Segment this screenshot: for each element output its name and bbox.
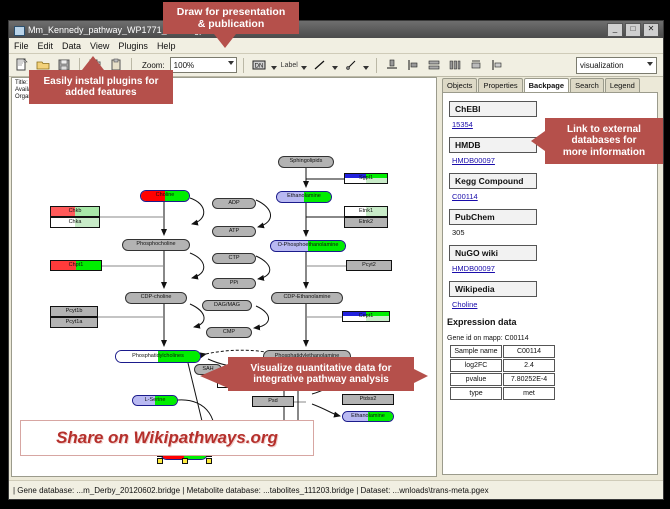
callout-link: Link to external databases for more info… — [545, 118, 663, 164]
node-label: Sphingolipids — [290, 159, 323, 165]
metabolite-node[interactable]: CTP — [212, 253, 256, 264]
expression-data-heading: Expression data — [447, 317, 657, 327]
distribute-icon[interactable] — [446, 56, 464, 74]
metabolite-node[interactable]: ATP — [212, 226, 256, 237]
database-block: Kegg CompoundC00114 — [449, 171, 657, 201]
metabolite-node[interactable]: ADP — [212, 198, 256, 209]
table-row: Sample nameC00114 — [450, 345, 555, 358]
callout-plugins-line1: Easily install plugins for — [43, 76, 158, 88]
pathway-canvas[interactable]: Title: Availa Organi — [11, 77, 437, 477]
node-label: PPi — [230, 281, 239, 287]
gene-node[interactable]: Chpt1 — [50, 260, 102, 271]
metabolite-node[interactable]: Choline — [140, 190, 190, 202]
gene-node[interactable]: Ptdss2 — [342, 394, 394, 405]
size-icon[interactable] — [467, 56, 485, 74]
node-label: ATP — [229, 229, 239, 235]
zoom-label: Zoom: — [142, 61, 165, 70]
zoom-value: 100% — [174, 61, 194, 70]
minimize-button[interactable]: _ — [607, 23, 623, 37]
node-label: Ethanolamine — [287, 194, 321, 200]
line-icon[interactable] — [311, 56, 329, 74]
node-label: Cept1 — [359, 314, 374, 320]
selection-handle[interactable] — [157, 458, 163, 464]
chevron-down-icon — [647, 62, 653, 66]
tab-legend[interactable]: Legend — [605, 78, 640, 92]
node-label: DAG/MAG — [214, 303, 240, 309]
node-label: Choline — [156, 193, 175, 199]
database-name: PubChem — [449, 209, 537, 225]
callout-link-line1: Link to external — [567, 124, 641, 136]
tab-properties[interactable]: Properties — [478, 78, 522, 92]
gene-node[interactable]: Pcyt2 — [346, 260, 392, 271]
selection-handle[interactable] — [206, 458, 212, 464]
database-value: 305 — [452, 228, 657, 237]
callout-plugins-arrow — [82, 56, 104, 70]
callout-visualize-line2: integrative pathway analysis — [253, 374, 389, 386]
expression-table: Sample nameC00114log2FC2.4pvalue7.80252E… — [449, 344, 556, 401]
callout-visualize-arrow — [200, 364, 228, 388]
interaction-icon[interactable] — [342, 56, 360, 74]
callout-share-text: Share on Wikipathways.org — [56, 428, 278, 448]
callout-draw: Draw for presentation & publication — [163, 2, 299, 34]
svg-text:DN: DN — [254, 64, 263, 70]
database-name: HMDB — [449, 137, 537, 153]
tab-search[interactable]: Search — [570, 78, 604, 92]
database-link[interactable]: C00114 — [452, 192, 657, 201]
table-row: log2FC2.4 — [450, 359, 555, 372]
menu-item-edit[interactable]: Edit — [38, 41, 54, 51]
callout-share: Share on Wikipathways.org — [20, 420, 314, 456]
node-label: Pcyt1b — [66, 309, 83, 315]
status-bar: | Gene database: ...m_Derby_20120602.bri… — [9, 480, 663, 499]
node-label: Pcyt2 — [362, 263, 376, 269]
node-label: CDP-choline — [141, 295, 172, 301]
expression-value: met — [503, 387, 555, 400]
toolbar-separator-3 — [243, 58, 244, 73]
maximize-button[interactable]: □ — [625, 23, 641, 37]
gene-id-label: Gene id on mapp: C00114 — [447, 335, 657, 342]
metabolite-node[interactable]: Sphingolipids — [278, 156, 334, 168]
gene-node[interactable]: Cept1 — [342, 311, 390, 322]
metabolite-node[interactable]: O-Phosphoethanolamine — [270, 240, 346, 252]
node-label: Ptdss2 — [360, 397, 377, 403]
node-label: Ethanolamine — [351, 414, 385, 420]
chevron-down-icon — [228, 61, 234, 65]
close-button[interactable]: ✕ — [643, 23, 659, 37]
line-dropdown-icon[interactable] — [332, 66, 338, 70]
expression-key: log2FC — [450, 359, 502, 372]
node-label: L-Serine — [145, 398, 166, 404]
database-block: WikipediaCholine — [449, 279, 657, 309]
menu-item-data[interactable]: Data — [62, 41, 81, 51]
gene-node[interactable]: Chkb — [50, 206, 100, 217]
tab-backpage[interactable]: Backpage — [524, 78, 569, 92]
bring-front-icon[interactable] — [488, 56, 506, 74]
visualization-value: visualization — [580, 61, 624, 70]
gene-node[interactable]: Pcyt1b — [50, 306, 98, 317]
node-label: Pcyt1a — [66, 320, 83, 326]
callout-visualize-arrow-right — [412, 368, 428, 384]
metabolite-node[interactable]: Phosphocholine — [122, 239, 190, 251]
node-label: CTP — [229, 256, 240, 262]
stack-icon[interactable] — [425, 56, 443, 74]
menu-item-view[interactable]: View — [90, 41, 109, 51]
menu-item-file[interactable]: File — [14, 41, 29, 51]
metabolite-node[interactable]: CMP — [206, 327, 252, 338]
visualization-select[interactable]: visualization — [576, 57, 657, 74]
node-label: O-Phosphoethanolamine — [278, 243, 339, 249]
database-name: Wikipedia — [449, 281, 537, 297]
node-label: Phosphatidylcholines — [132, 354, 184, 360]
node-label: ADP — [228, 201, 239, 207]
menu-item-help[interactable]: Help — [157, 41, 176, 51]
node-label: Phosphocholine — [136, 242, 175, 248]
callout-visualize: Visualize quantitative data for integrat… — [228, 357, 414, 391]
node-label: Etnk2 — [359, 220, 373, 226]
align-left-icon[interactable] — [404, 56, 422, 74]
table-row: typemet — [450, 387, 555, 400]
callout-plugins-line2: added features — [65, 87, 136, 99]
metabolite-node[interactable]: CDP-Ethanolamine — [271, 292, 343, 304]
metabolite-node[interactable]: DAG/MAG — [202, 300, 252, 311]
metabolite-node[interactable]: Ethanolamine — [276, 191, 332, 203]
side-panel-tabs: Objects Properties Backpage Search Legen… — [439, 78, 661, 92]
datanode-icon[interactable]: DN — [250, 56, 268, 74]
database-block: NuGO wikiHMDB00097 — [449, 243, 657, 273]
expression-value: C00114 — [503, 345, 555, 358]
selection-handle[interactable] — [182, 458, 188, 464]
interaction-dropdown-icon[interactable] — [363, 66, 369, 70]
node-label: CMP — [223, 330, 235, 336]
callout-link-line3: more information — [563, 147, 645, 159]
callout-draw-line2: & publication — [198, 18, 265, 30]
callout-link-line2: databases for — [571, 135, 636, 147]
metabolite-node[interactable]: Phosphatidylcholines — [115, 350, 201, 363]
gene-node[interactable]: Sgpl1 — [344, 173, 388, 184]
gene-node[interactable]: Chka — [50, 217, 100, 228]
menu-bar: File Edit Data View Plugins Help — [9, 38, 663, 54]
app-icon — [13, 24, 24, 35]
node-label: Chpt1 — [69, 263, 84, 269]
callout-draw-arrow — [214, 34, 236, 48]
callout-visualize-line1: Visualize quantitative data for — [251, 363, 392, 375]
node-label: Chka — [69, 220, 82, 226]
metabolite-node[interactable]: CDP-choline — [125, 292, 187, 304]
table-row: pvalue7.80252E-4 — [450, 373, 555, 386]
expression-key: pvalue — [450, 373, 502, 386]
database-name: ChEBI — [449, 101, 537, 117]
gene-node[interactable]: Etnk1 — [344, 206, 388, 217]
gene-node[interactable]: Etnk2 — [344, 217, 388, 228]
expression-key: Sample name — [450, 345, 502, 358]
metabolite-node[interactable]: Ethanolamine — [342, 411, 394, 422]
datanode-dropdown-icon[interactable] — [271, 66, 277, 70]
node-label: Etnk1 — [359, 209, 373, 215]
label-dropdown-icon[interactable] — [301, 66, 307, 70]
screenshot-root: Mm_Kennedy_pathway_WP1771_45176.gpml _ □… — [0, 0, 670, 509]
metabolite-node[interactable]: PPi — [212, 278, 256, 289]
database-link[interactable]: Choline — [452, 300, 657, 309]
toolbar-separator-4 — [376, 58, 377, 73]
window-controls: _ □ ✕ — [607, 23, 659, 37]
label-tool-label[interactable]: Label — [281, 62, 298, 69]
node-label: Sgpl1 — [359, 176, 373, 182]
callout-draw-line1: Draw for presentation — [177, 6, 286, 18]
database-name: NuGO wiki — [449, 245, 537, 261]
expression-value: 2.4 — [503, 359, 555, 372]
menu-item-plugins[interactable]: Plugins — [118, 41, 148, 51]
title-bar: Mm_Kennedy_pathway_WP1771_45176.gpml _ □… — [9, 21, 663, 38]
database-link[interactable]: HMDB00097 — [452, 264, 657, 273]
zoom-select[interactable]: 100% — [170, 57, 237, 73]
node-label: CDP-Ethanolamine — [283, 295, 330, 301]
callout-plugins: Easily install plugins for added feature… — [29, 70, 173, 104]
expression-value: 7.80252E-4 — [503, 373, 555, 386]
node-label: Chkb — [69, 209, 82, 215]
gene-node[interactable]: Pcyt1a — [50, 317, 98, 328]
database-block: PubChem305 — [449, 207, 657, 237]
status-text: | Gene database: ...m_Derby_20120602.bri… — [9, 486, 489, 495]
database-name: Kegg Compound — [449, 173, 537, 189]
metabolite-node[interactable]: L-Serine — [132, 395, 178, 406]
gene-node[interactable]: Psd — [252, 396, 294, 407]
tab-objects[interactable]: Objects — [442, 78, 477, 92]
callout-link-arrow — [531, 131, 545, 151]
node-label: Psd — [268, 399, 277, 405]
expression-key: type — [450, 387, 502, 400]
align-top-icon[interactable] — [383, 56, 401, 74]
